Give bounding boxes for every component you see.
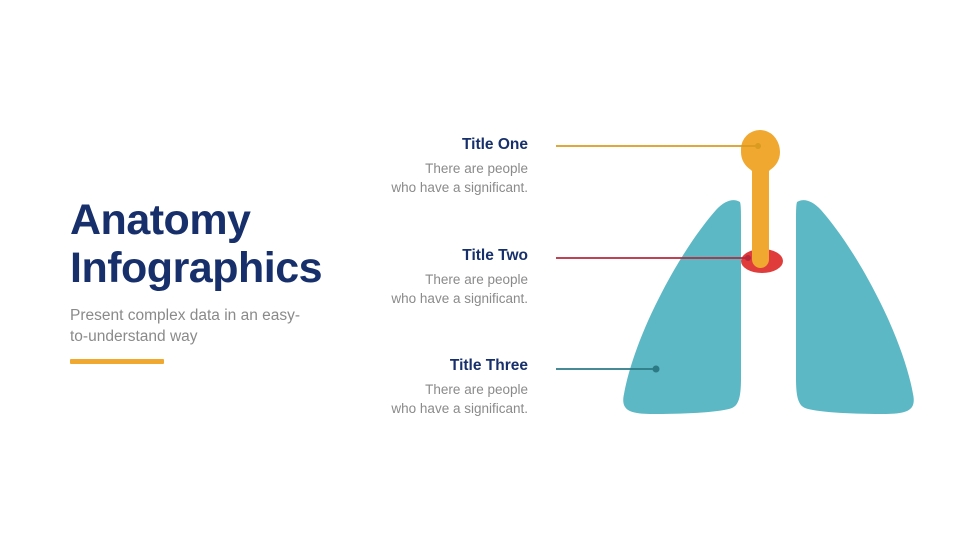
callout-three: Title Three There are people who have a … <box>298 357 528 419</box>
connector-endpoint-three <box>653 366 660 373</box>
callout-one: Title One There are people who have a si… <box>298 136 528 198</box>
callout-two-body: There are people who have a significant. <box>298 270 528 309</box>
page-subtitle: Present complex data in an easy- to-unde… <box>70 306 360 348</box>
left-lung-shape <box>623 200 741 414</box>
larynx-upper-bulb <box>741 130 779 168</box>
connector-endpoint-two <box>745 255 751 261</box>
callout-one-body: There are people who have a significant. <box>298 159 528 198</box>
callout-three-body: There are people who have a significant. <box>298 380 528 419</box>
callout-two: Title Two There are people who have a si… <box>298 247 528 309</box>
lungs-anatomy-illustration <box>520 120 940 430</box>
callout-three-title: Title Three <box>298 357 528 376</box>
connector-endpoint-one <box>755 143 761 149</box>
slide-canvas: Anatomy Infographics Present complex dat… <box>0 0 980 551</box>
accent-rule <box>70 359 164 364</box>
callout-one-title: Title One <box>298 136 528 155</box>
right-lung-shape <box>796 200 914 414</box>
callout-two-title: Title Two <box>298 247 528 266</box>
